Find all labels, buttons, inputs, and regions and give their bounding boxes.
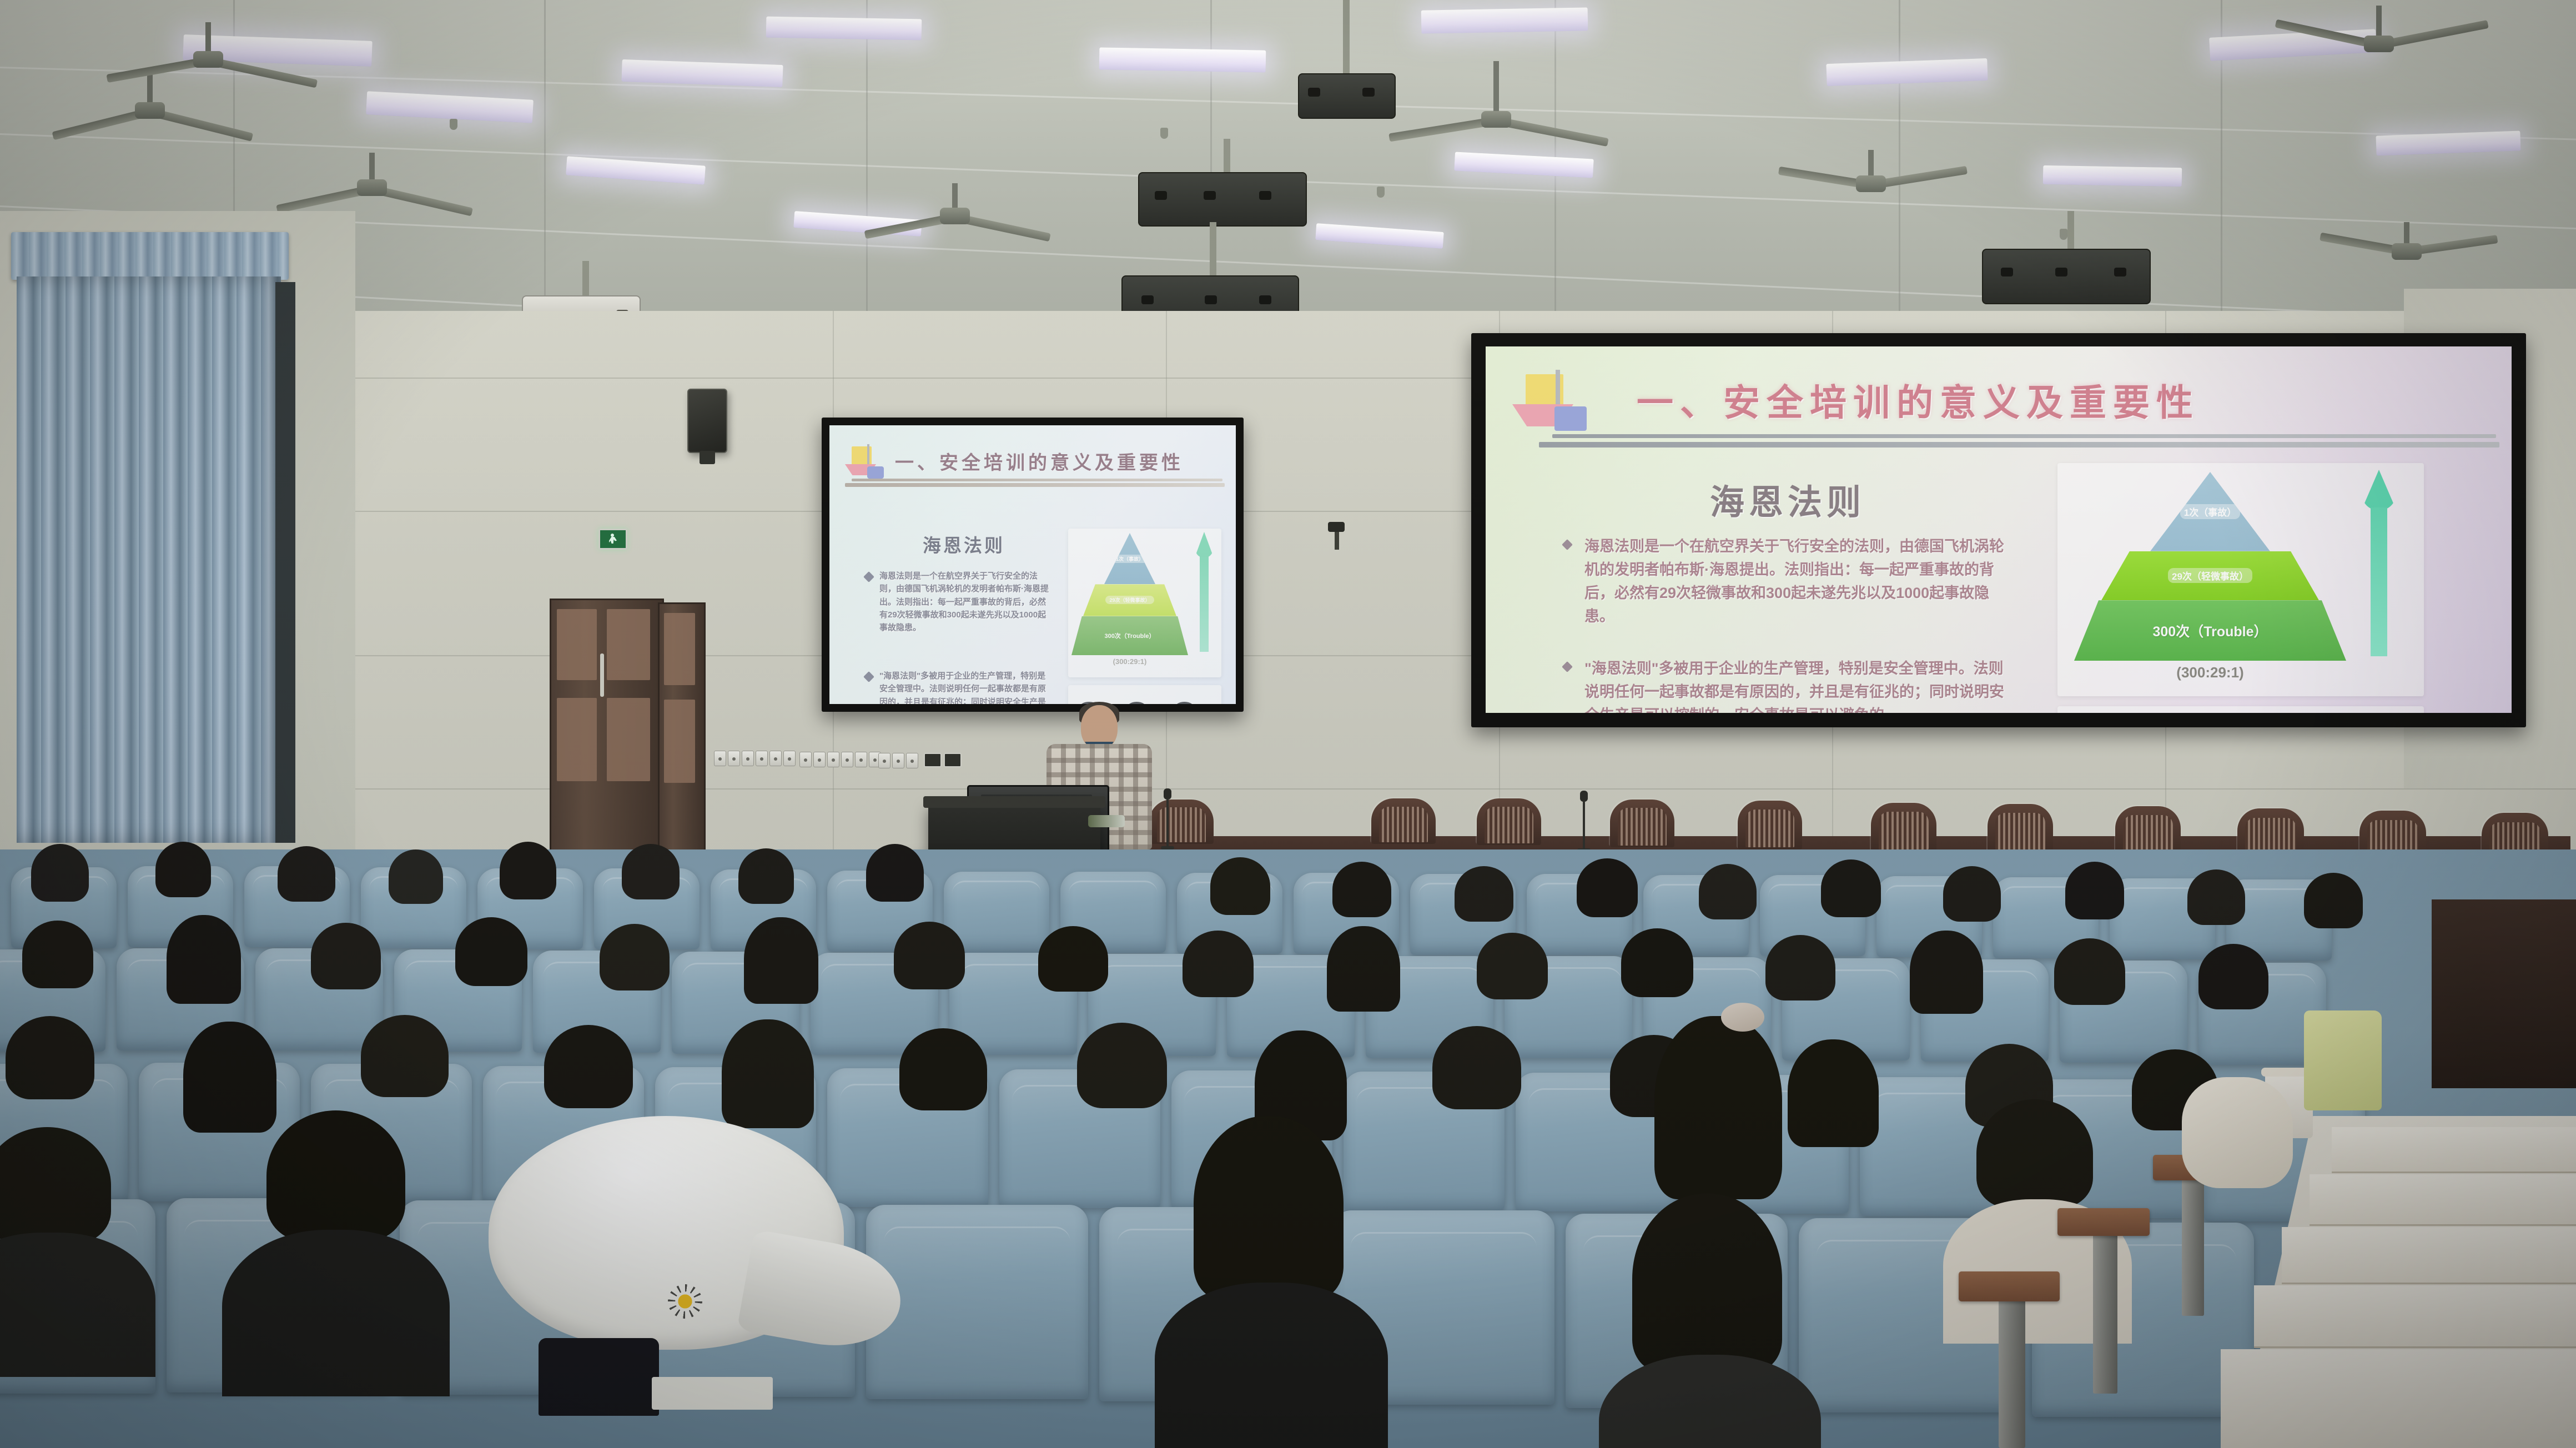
light-switch-panel[interactable] bbox=[799, 752, 881, 767]
pyramid-level-mid: 29次（轻微事故） bbox=[2101, 551, 2319, 600]
side-screen-slide: 一、安全培训的意义及重要性 海恩法则 海恩法则是一个在航空界关于飞行安全的法则，… bbox=[829, 425, 1236, 704]
light-switch[interactable] bbox=[783, 751, 796, 766]
light-switch[interactable] bbox=[906, 753, 918, 768]
aisle-step bbox=[2310, 1174, 2576, 1226]
slide-decoration bbox=[1512, 370, 1601, 441]
stage-side-wall bbox=[2432, 899, 2576, 1088]
main-slide-bullet: 海恩法则是一个在航空界关于飞行安全的法则，由德国飞机涡轮机的发明者帕布斯·海恩提… bbox=[1563, 535, 2008, 628]
light-switch[interactable] bbox=[728, 751, 740, 766]
aisle-step bbox=[2221, 1349, 2576, 1448]
aisle-step bbox=[2254, 1285, 2576, 1348]
pyramid-level-mid-label: 29次（轻微事故） bbox=[2168, 568, 2252, 583]
light-switch[interactable] bbox=[756, 751, 768, 766]
smoke-detector bbox=[1377, 187, 1385, 198]
wall-speaker bbox=[687, 389, 727, 453]
exit-sign bbox=[598, 529, 627, 550]
auditorium-door[interactable] bbox=[658, 602, 706, 856]
stage-chair bbox=[1871, 803, 1936, 852]
window-frame-shadow bbox=[275, 282, 295, 843]
tote-bag bbox=[2304, 1010, 2382, 1110]
light-switch[interactable] bbox=[769, 751, 782, 766]
hair-scrunchie bbox=[1721, 1003, 1764, 1032]
stage-chair bbox=[1610, 800, 1674, 847]
side-slide-bullet: "海恩法则"多被用于企业的生产管理，特别是安全管理中。法则说明任何一起事故都是有… bbox=[865, 670, 1054, 704]
running-person-icon bbox=[609, 534, 617, 545]
main-slide-heading: 海恩法则 bbox=[1710, 474, 1865, 524]
main-cartoon-card bbox=[2057, 706, 2424, 713]
stage-chair bbox=[1371, 798, 1436, 844]
main-slide-bullet: "海恩法则"多被用于企业的生产管理，特别是安全管理中。法则说明任何一起事故都是有… bbox=[1563, 657, 2008, 713]
light-switch-panel[interactable] bbox=[878, 753, 918, 768]
pyramid-level-base-label: 300次（Trouble） bbox=[2153, 621, 2268, 641]
smoke-detector bbox=[450, 119, 457, 130]
ceiling-projector bbox=[1294, 0, 1399, 128]
stage-chair bbox=[1988, 804, 2053, 854]
aisle-step bbox=[2332, 1127, 2576, 1173]
daisy-logo-icon bbox=[673, 1290, 697, 1313]
ceiling-projector bbox=[1982, 211, 2160, 322]
jacket-on-seat bbox=[2182, 1077, 2293, 1188]
stage-chair bbox=[1738, 801, 1802, 849]
side-slide-bullet: 海恩法则是一个在航空界关于飞行安全的法则，由德国飞机涡轮机的发明者帕布斯·海恩提… bbox=[865, 570, 1054, 634]
ceiling-fan bbox=[119, 22, 297, 105]
ceiling-fan bbox=[1405, 61, 1588, 155]
side-up-arrow-icon bbox=[1195, 532, 1214, 652]
pyramid-ratio-caption: (300:29:1) bbox=[2074, 664, 2346, 681]
curtain-valance bbox=[11, 232, 289, 280]
ceiling-fan bbox=[877, 183, 1033, 255]
cap-back-opening bbox=[539, 1338, 660, 1416]
side-slide-title: 一、安全培训的意义及重要性 bbox=[895, 448, 1184, 475]
main-pyramid-diagram: 1次（事故） 29次（轻微事故） 300次（Trouble） (300:29:1… bbox=[2074, 472, 2346, 661]
ceiling-light-panel bbox=[1099, 47, 1266, 72]
pyramid-level-top: 1次（事故） bbox=[2150, 472, 2270, 551]
light-switch[interactable] bbox=[892, 753, 904, 768]
window-curtain bbox=[11, 232, 289, 843]
white-baseball-cap bbox=[489, 1116, 844, 1416]
wall-camera bbox=[1327, 522, 1349, 551]
smoke-detector bbox=[1160, 128, 1168, 139]
slide-decoration bbox=[844, 444, 892, 483]
auditorium-door[interactable] bbox=[550, 599, 664, 863]
wall-outlet[interactable] bbox=[924, 753, 942, 767]
light-switch[interactable] bbox=[841, 752, 853, 767]
side-pyramid-diagram: 1次（事故） 29次（轻微事故） 300次（Trouble） (300:29:1… bbox=[1071, 533, 1188, 655]
light-switch[interactable] bbox=[878, 753, 890, 768]
main-screen-frame: 一、安全培训的意义及重要性 海恩法则 海恩法则是一个在航空界关于飞行安全的法则，… bbox=[1471, 333, 2526, 727]
stage-chair bbox=[2115, 806, 2181, 856]
side-screen-frame: 一、安全培训的意义及重要性 海恩法则 海恩法则是一个在航空界关于飞行安全的法则，… bbox=[822, 418, 1244, 712]
seat-frame-post bbox=[2182, 1172, 2204, 1316]
light-switch[interactable] bbox=[827, 752, 839, 767]
light-switch-panel[interactable] bbox=[714, 751, 796, 766]
wall-outlet[interactable] bbox=[944, 753, 962, 767]
ceiling-fan bbox=[2332, 222, 2482, 289]
side-cartoon-card bbox=[1068, 685, 1221, 704]
microphone-stand bbox=[1577, 791, 1591, 852]
seat-frame-post bbox=[2093, 1227, 2117, 1394]
main-screen-slide: 一、安全培训的意义及重要性 海恩法则 海恩法则是一个在航空界关于飞行安全的法则，… bbox=[1486, 346, 2512, 713]
aisle-step bbox=[2282, 1227, 2576, 1284]
main-slide-title: 一、安全培训的意义及重要性 bbox=[1637, 373, 2200, 426]
ceiling-fan bbox=[2287, 6, 2471, 89]
laser-pointer[interactable] bbox=[1088, 815, 1125, 827]
light-switch[interactable] bbox=[855, 752, 867, 767]
ceiling-fan bbox=[1793, 150, 1949, 222]
stage-chair bbox=[1477, 798, 1541, 845]
seat-armrest bbox=[1959, 1271, 2060, 1301]
light-switch[interactable] bbox=[742, 751, 754, 766]
cap-adjust-strap[interactable] bbox=[652, 1377, 773, 1410]
ceiling-light-panel bbox=[766, 17, 922, 41]
ceiling-light-panel bbox=[2043, 165, 2182, 187]
light-switch[interactable] bbox=[714, 751, 726, 766]
pyramid-level-base: 300次（Trouble） bbox=[2074, 600, 2346, 661]
side-pyramid-card: 1次（事故） 29次（轻微事故） 300次（Trouble） (300:29:1… bbox=[1068, 529, 1221, 677]
pyramid-level-top-label: 1次（事故） bbox=[2180, 504, 2240, 519]
side-pyramid-ratio: (300:29:1) bbox=[1071, 657, 1188, 666]
ceiling-light-panel bbox=[1421, 7, 1588, 33]
lecture-hall-photo: EPSON bbox=[0, 0, 2576, 1448]
light-switch[interactable] bbox=[813, 752, 826, 767]
up-arrow-icon bbox=[2362, 470, 2396, 656]
curtain-drape bbox=[17, 276, 281, 843]
seat-frame-post bbox=[1999, 1294, 2025, 1448]
main-pyramid-card: 1次（事故） 29次（轻微事故） 300次（Trouble） (300:29:1… bbox=[2057, 463, 2424, 696]
seat-armrest bbox=[2057, 1208, 2150, 1236]
side-slide-heading: 海恩法则 bbox=[923, 531, 1005, 557]
light-switch[interactable] bbox=[799, 752, 812, 767]
